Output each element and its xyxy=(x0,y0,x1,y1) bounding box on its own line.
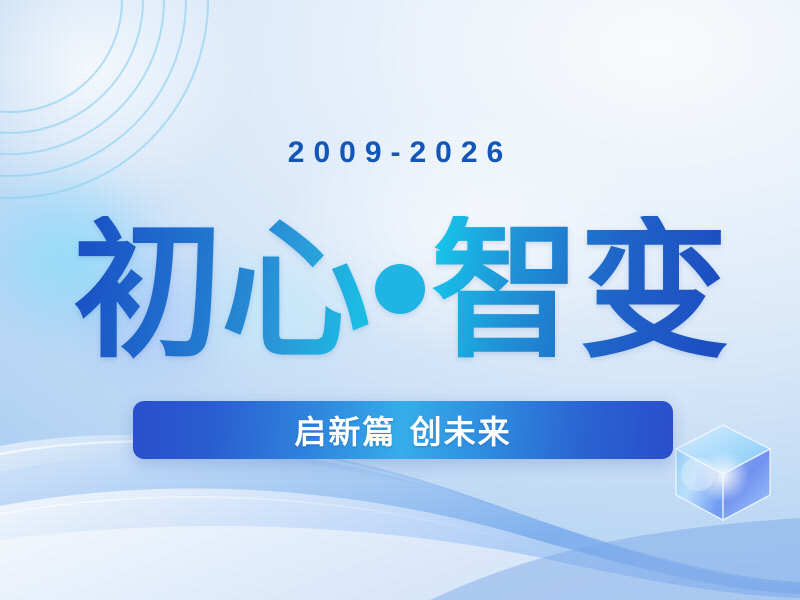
headline-right-text: 智变 xyxy=(431,205,727,379)
dot-separator-icon xyxy=(375,264,425,314)
anniversary-poster: 2009-2026 初心智变 启新篇 创未来 xyxy=(0,0,800,600)
slogan-text: 启新篇 创未来 xyxy=(294,407,511,453)
year-range: 2009-2026 xyxy=(0,136,800,170)
headline: 初心智变 xyxy=(0,216,800,368)
headline-left-text: 初心 xyxy=(73,205,369,379)
poster-content: 2009-2026 初心智变 启新篇 创未来 xyxy=(0,0,800,600)
slogan-banner: 启新篇 创未来 xyxy=(133,401,673,459)
